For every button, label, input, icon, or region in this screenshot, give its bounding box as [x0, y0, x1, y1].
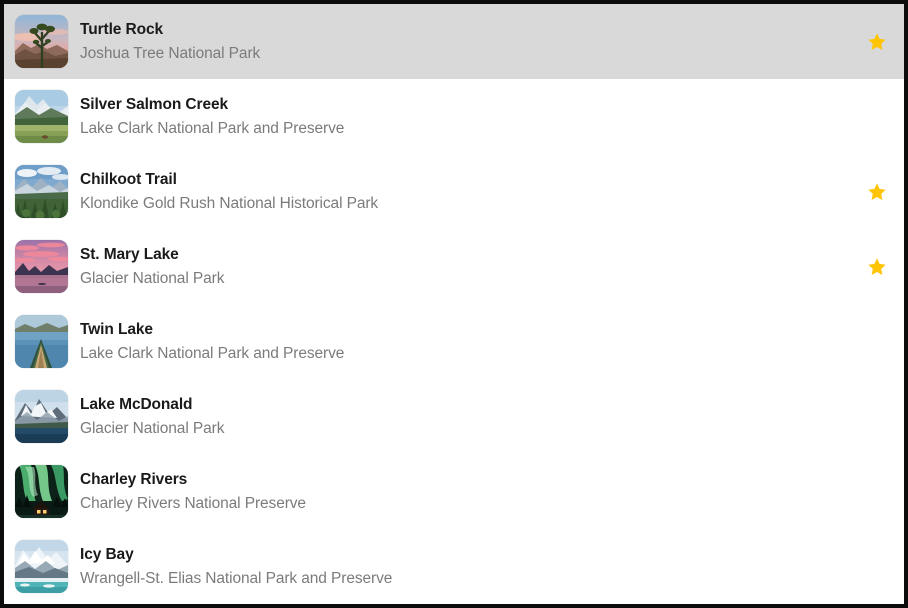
place-title: Turtle Rock: [80, 20, 864, 40]
place-row[interactable]: Lake McDonaldGlacier National Park: [4, 379, 904, 454]
place-subtitle: Charley Rivers National Preserve: [80, 493, 864, 514]
place-subtitle: Glacier National Park: [80, 418, 864, 439]
place-subtitle: Joshua Tree National Park: [80, 43, 864, 64]
thumbnail-mountain-range-with-conifers: [15, 165, 68, 218]
star-icon: [864, 329, 890, 355]
place-subtitle: Klondike Gold Rush National Historical P…: [80, 193, 864, 214]
place-row-text: St. Mary LakeGlacier National Park: [80, 245, 864, 289]
place-title: St. Mary Lake: [80, 245, 864, 265]
window-frame: Turtle RockJoshua Tree National Park Sil…: [0, 0, 908, 608]
star-icon: [864, 404, 890, 430]
place-title: Twin Lake: [80, 320, 864, 340]
place-title: Charley Rivers: [80, 470, 864, 490]
star-icon[interactable]: [864, 179, 890, 205]
place-row[interactable]: Silver Salmon CreekLake Clark National P…: [4, 79, 904, 154]
star-icon[interactable]: [864, 254, 890, 280]
places-list[interactable]: Turtle RockJoshua Tree National Park Sil…: [4, 4, 904, 604]
star-icon[interactable]: [864, 29, 890, 55]
place-row-text: Lake McDonaldGlacier National Park: [80, 395, 864, 439]
thumbnail-joshua-tree-at-sunset: [15, 15, 68, 68]
place-row-text: Turtle RockJoshua Tree National Park: [80, 20, 864, 64]
thumbnail-canoe-bow-on-calm-water: [15, 315, 68, 368]
thumbnail-aurora-borealis-over-cabin: [15, 465, 68, 518]
place-subtitle: Lake Clark National Park and Preserve: [80, 118, 864, 139]
place-row-text: Chilkoot TrailKlondike Gold Rush Nationa…: [80, 170, 864, 214]
place-row-text: Twin LakeLake Clark National Park and Pr…: [80, 320, 864, 364]
place-row[interactable]: Charley RiversCharley Rivers National Pr…: [4, 454, 904, 529]
star-icon: [864, 479, 890, 505]
thumbnail-pink-sunset-over-lake: [15, 240, 68, 293]
place-row-text: Icy BayWrangell-St. Elias National Park …: [80, 545, 864, 589]
place-title: Chilkoot Trail: [80, 170, 864, 190]
place-subtitle: Glacier National Park: [80, 268, 864, 289]
place-row-text: Silver Salmon CreekLake Clark National P…: [80, 95, 864, 139]
place-subtitle: Lake Clark National Park and Preserve: [80, 343, 864, 364]
place-row[interactable]: Chilkoot TrailKlondike Gold Rush Nationa…: [4, 154, 904, 229]
place-row[interactable]: Icy BayWrangell-St. Elias National Park …: [4, 529, 904, 604]
place-row[interactable]: St. Mary LakeGlacier National Park: [4, 229, 904, 304]
place-row[interactable]: Turtle RockJoshua Tree National Park: [4, 4, 904, 79]
place-row-text: Charley RiversCharley Rivers National Pr…: [80, 470, 864, 514]
place-row[interactable]: Twin LakeLake Clark National Park and Pr…: [4, 304, 904, 379]
place-subtitle: Wrangell-St. Elias National Park and Pre…: [80, 568, 864, 589]
star-icon: [864, 104, 890, 130]
star-icon: [864, 554, 890, 580]
thumbnail-snow-mountain-over-blue-lake: [15, 390, 68, 443]
thumbnail-glacier-and-turquoise-bay: [15, 540, 68, 593]
place-title: Icy Bay: [80, 545, 864, 565]
thumbnail-snowy-peak-over-green-meadow: [15, 90, 68, 143]
place-title: Lake McDonald: [80, 395, 864, 415]
place-title: Silver Salmon Creek: [80, 95, 864, 115]
